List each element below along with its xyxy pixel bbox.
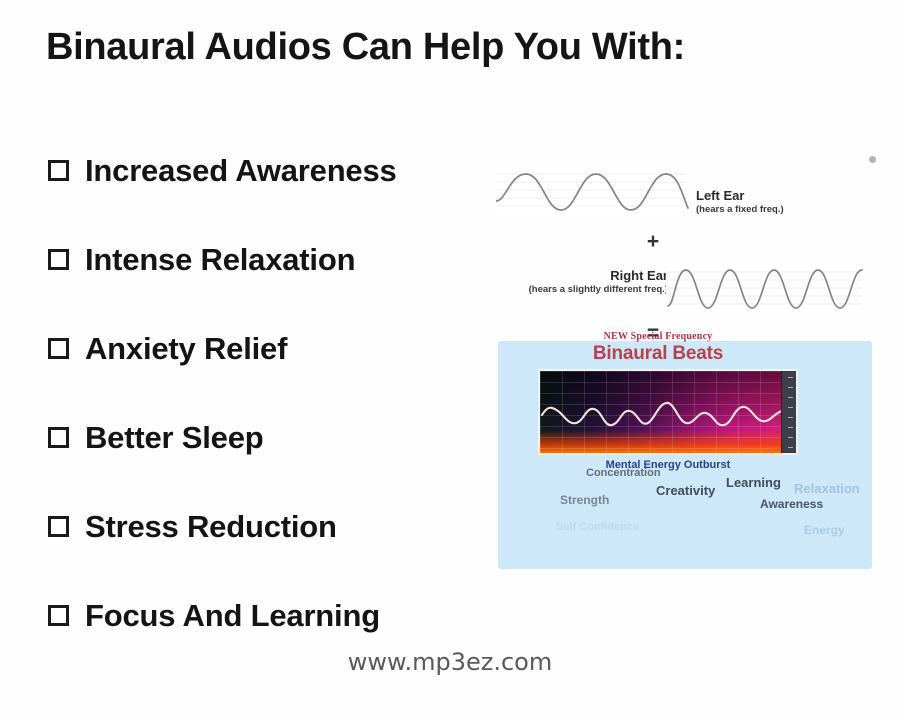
left-ear-row: Left Ear (hears a fixed freq.) [488, 164, 888, 226]
page-title: Binaural Audios Can Help You With: [46, 26, 685, 69]
checkbox-square-icon [48, 427, 69, 448]
cloud-word: Learning [726, 475, 781, 490]
list-item-label: Increased Awareness [85, 153, 397, 189]
right-ear-row: Right Ear (hears a slightly different fr… [488, 262, 888, 324]
list-item: Focus And Learning [48, 571, 478, 660]
right-ear-labels: Right Ear (hears a slightly different fr… [488, 268, 668, 296]
cloud-word: Energy [804, 523, 845, 537]
spectrum-scale [781, 371, 796, 453]
checkbox-square-icon [48, 160, 69, 181]
spectrum-display [538, 369, 798, 455]
list-item: Better Sleep [48, 393, 478, 482]
binaural-beats-title: Binaural Beats [498, 343, 818, 365]
left-ear-title: Left Ear [696, 188, 886, 203]
checkbox-square-icon [48, 516, 69, 537]
list-item: Intense Relaxation [48, 215, 478, 304]
cloud-word: Awareness [760, 497, 823, 511]
binaural-beats-diagram: Left Ear (hears a fixed freq.) + Right E… [488, 150, 888, 580]
list-item-label: Intense Relaxation [85, 242, 355, 278]
footer-website-url: www.mp3ez.com [0, 648, 900, 676]
list-item: Stress Reduction [48, 482, 478, 571]
cloud-word: Strength [560, 493, 609, 507]
left-ear-waveform-icon [496, 164, 691, 222]
plus-operator: + [488, 230, 818, 254]
checkbox-square-icon [48, 605, 69, 626]
list-item-label: Anxiety Relief [85, 331, 287, 367]
right-ear-title: Right Ear [488, 268, 668, 283]
new-frequency-caption: NEW Special Frequency [498, 331, 818, 342]
right-ear-waveform-icon [666, 262, 866, 320]
cloud-word: Concentration [586, 467, 661, 479]
image-artifact-dot [869, 156, 876, 163]
list-item-label: Better Sleep [85, 420, 264, 456]
result-panel: NEW Special Frequency Binaural Beats [498, 341, 872, 569]
right-ear-subtitle: (hears a slightly different freq.) [488, 283, 668, 296]
list-item-label: Focus And Learning [85, 598, 380, 634]
left-ear-subtitle: (hears a fixed freq.) [696, 203, 886, 216]
list-item: Increased Awareness [48, 126, 478, 215]
left-ear-labels: Left Ear (hears a fixed freq.) [696, 188, 886, 216]
cloud-word: Creativity [656, 483, 715, 498]
benefits-list: Increased Awareness Intense Relaxation A… [48, 126, 478, 660]
cloud-word: Relaxation [794, 481, 860, 496]
list-item-label: Stress Reduction [85, 509, 337, 545]
checkbox-square-icon [48, 338, 69, 359]
list-item: Anxiety Relief [48, 304, 478, 393]
mental-energy-label: Mental Energy Outburst [538, 459, 798, 471]
cloud-word: Self Confidence [556, 521, 639, 533]
checkbox-square-icon [48, 249, 69, 270]
beat-waveform-icon [540, 371, 782, 453]
